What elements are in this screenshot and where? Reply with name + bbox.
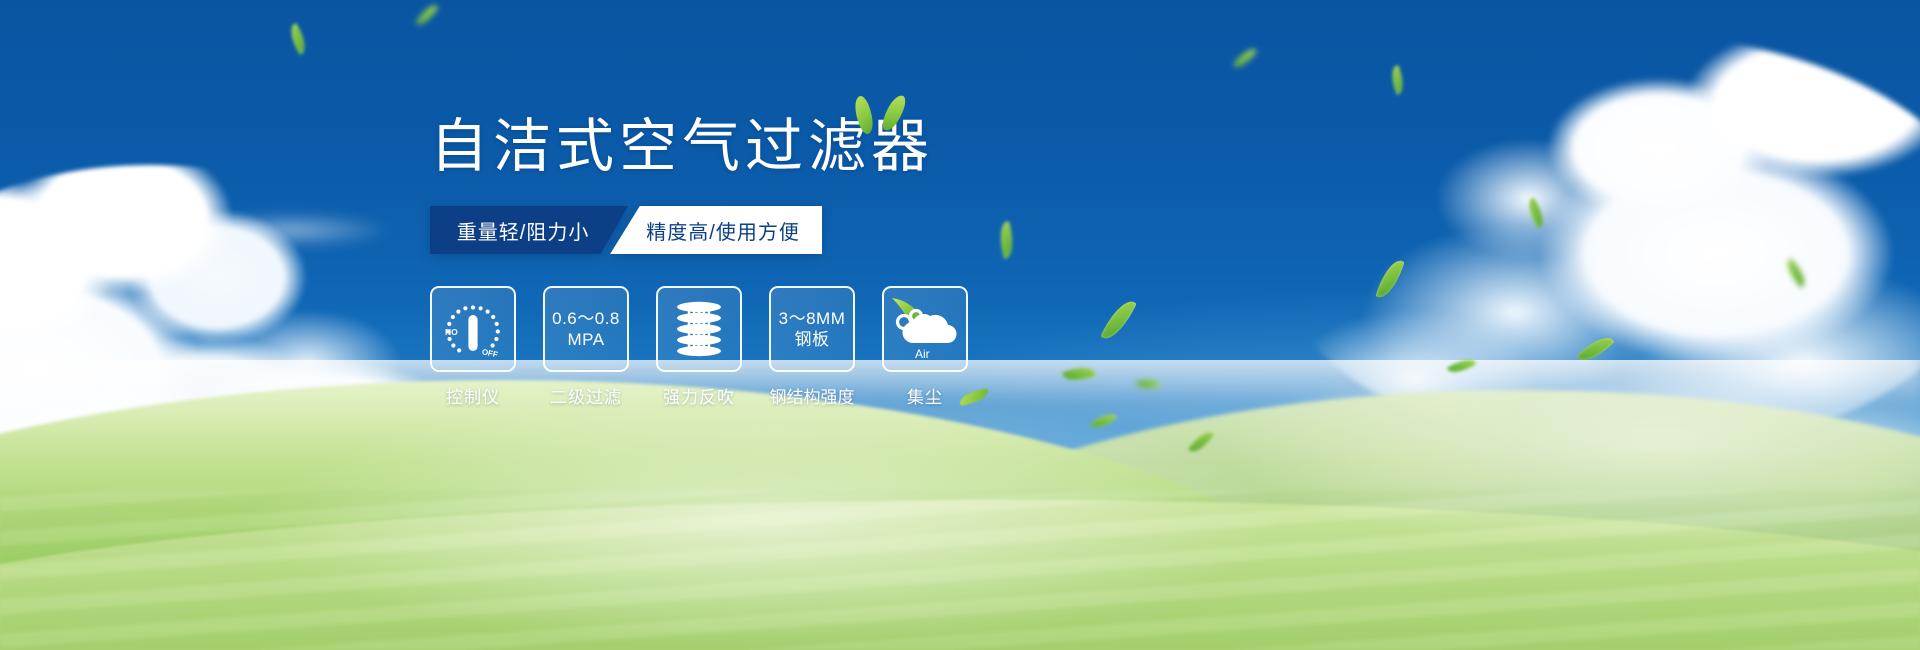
sprout-leaf-right-icon bbox=[881, 92, 908, 133]
dial-off-label: OFF bbox=[481, 347, 499, 359]
feature-item-secondary-filtration[interactable]: 0.6～0.8 MPA 二级过滤 bbox=[543, 286, 629, 408]
label-leaf-icon bbox=[958, 388, 990, 406]
air-cloud-icon: Air bbox=[888, 292, 962, 366]
feature-item-steel-strength[interactable]: 3～8MM 钢板 钢结构强度 bbox=[769, 286, 855, 408]
filter-cartridge-icon bbox=[667, 295, 731, 363]
feature-item-backflush[interactable]: 强力反吹 bbox=[656, 286, 742, 408]
pressure-unit: MPA bbox=[552, 329, 620, 350]
pressure-text-icon: 0.6～0.8 MPA bbox=[552, 308, 620, 351]
feature-box-air: Air bbox=[882, 286, 968, 372]
feature-box-pressure: 0.6～0.8 MPA bbox=[543, 286, 629, 372]
banner-content: 自洁式空气过滤器 重量轻/阻力小 精度高/使用方便 bbox=[430, 118, 1110, 408]
control-dial-icon: NO OFF bbox=[438, 294, 508, 364]
sprout-leaf-left-icon bbox=[849, 94, 878, 135]
feature-item-dust-collection[interactable]: Air 集尘 bbox=[882, 286, 968, 408]
air-label: Air bbox=[915, 347, 930, 361]
feature-label-secondary-filtration: 二级过滤 bbox=[550, 383, 622, 408]
feature-label-controller: 控制仪 bbox=[446, 383, 500, 408]
page-title: 自洁式空气过滤器 bbox=[430, 118, 1110, 176]
feature-label-backflush: 强力反吹 bbox=[663, 383, 735, 408]
feature-label-dust-collection: 集尘 bbox=[907, 383, 943, 408]
tag-precision-convenience[interactable]: 精度高/使用方便 bbox=[610, 206, 822, 254]
pressure-range: 0.6～0.8 bbox=[552, 308, 620, 329]
feature-box-controller: NO OFF bbox=[430, 286, 516, 372]
feature-box-cartridge bbox=[656, 286, 742, 372]
feature-box-steel: 3～8MM 钢板 bbox=[769, 286, 855, 372]
steel-plate-text-icon: 3～8MM 钢板 bbox=[779, 308, 846, 351]
steel-thickness: 3～8MM bbox=[779, 308, 846, 329]
tag-weight-resistance[interactable]: 重量轻/阻力小 bbox=[430, 206, 628, 254]
feature-tag-group: 重量轻/阻力小 精度高/使用方便 bbox=[430, 206, 822, 254]
dial-on-label: NO bbox=[445, 327, 458, 337]
feature-label-steel-strength: 钢结构强度 bbox=[770, 383, 855, 408]
steel-material: 钢板 bbox=[779, 329, 846, 350]
feature-item-controller[interactable]: NO OFF 控制仪 bbox=[430, 286, 516, 408]
feature-icon-row: NO OFF 控制仪 0.6～0.8 MPA 二级过滤 bbox=[430, 286, 1110, 408]
sprout-leaves-icon bbox=[848, 90, 918, 140]
product-hero-banner: 自洁式空气过滤器 重量轻/阻力小 精度高/使用方便 bbox=[0, 0, 1920, 650]
